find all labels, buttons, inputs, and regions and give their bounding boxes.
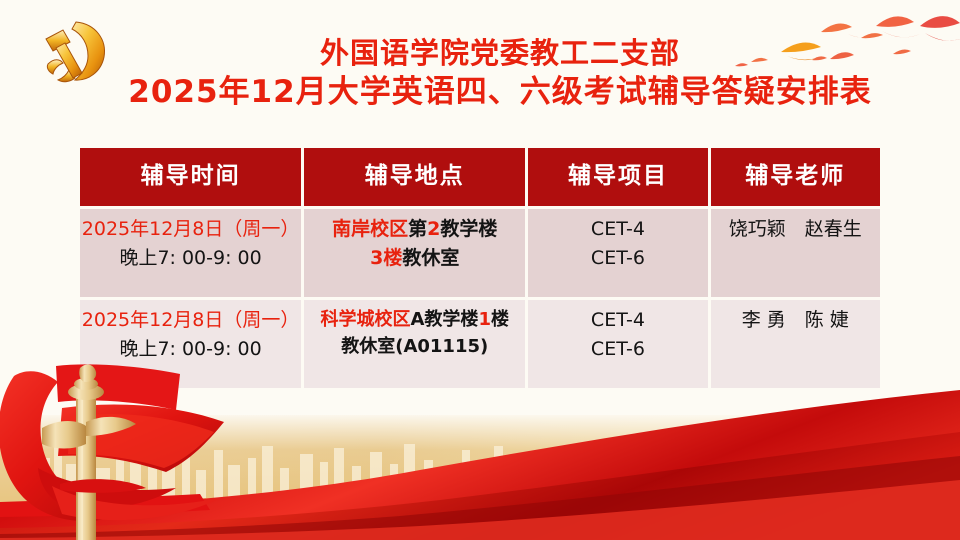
cell-place: 南岸校区第2教学楼 3楼教休室 xyxy=(304,209,525,297)
time-date: 2025年12月8日（周一） xyxy=(80,306,301,335)
teacher-names: 饶巧颖 赵春生 xyxy=(711,215,880,244)
slide-canvas: 外国语学院党委教工二支部 2025年12月大学英语四、六级考试辅导答疑安排表 辅… xyxy=(0,0,960,540)
column-header-item: 辅导项目 xyxy=(528,148,707,206)
page-title: 外国语学院党委教工二支部 2025年12月大学英语四、六级考试辅导答疑安排表 xyxy=(120,36,880,111)
red-ribbon-icon xyxy=(0,360,960,540)
item-cet4: CET-4 xyxy=(528,215,707,244)
item-cet6: CET-6 xyxy=(528,335,707,364)
place-building: A教学楼 xyxy=(411,309,479,330)
bottom-decoration xyxy=(0,360,960,540)
party-emblem-icon xyxy=(30,12,114,92)
item-cet4: CET-4 xyxy=(528,306,707,335)
title-line-2: 2025年12月大学英语四、六级考试辅导答疑安排表 xyxy=(120,74,880,111)
cell-item: CET-4 CET-6 xyxy=(528,209,707,297)
table-row: 2025年12月8日（周一） 晚上7: 00-9: 00 南岸校区第2教学楼 3… xyxy=(80,209,880,297)
place-line-2: 3楼教休室 xyxy=(304,244,525,273)
title-line-1: 外国语学院党委教工二支部 xyxy=(120,36,880,70)
place-room: 教休室 xyxy=(402,247,459,269)
place-floor-unit: 楼 xyxy=(491,309,509,330)
time-hours: 晚上7: 00-9: 00 xyxy=(80,244,301,273)
column-header-teacher: 辅导老师 xyxy=(711,148,880,206)
place-floor-no: 1 xyxy=(478,309,491,330)
column-header-time: 辅导时间 xyxy=(80,148,301,206)
place-line-1: 科学城校区A教学楼1楼 xyxy=(304,306,525,333)
place-line-1: 南岸校区第2教学楼 xyxy=(304,215,525,244)
place-floor: 3楼 xyxy=(370,247,402,269)
item-cet6: CET-6 xyxy=(528,244,707,273)
place-prefix: 第 xyxy=(408,218,427,240)
place-campus: 南岸校区 xyxy=(332,218,408,240)
time-hours: 晚上7: 00-9: 00 xyxy=(80,335,301,364)
place-line-2: 教休室(A01115) xyxy=(304,333,525,360)
column-header-place: 辅导地点 xyxy=(304,148,525,206)
time-date: 2025年12月8日（周一） xyxy=(80,215,301,244)
place-building-no: 2 xyxy=(427,218,440,240)
table-header-row: 辅导时间 辅导地点 辅导项目 辅导老师 xyxy=(80,148,880,206)
place-room: 教休室(A01115) xyxy=(341,336,488,357)
cell-time: 2025年12月8日（周一） 晚上7: 00-9: 00 xyxy=(80,209,301,297)
place-campus: 科学城校区 xyxy=(321,309,411,330)
teacher-names: 李 勇 陈 婕 xyxy=(711,306,880,335)
place-building: 教学楼 xyxy=(440,218,497,240)
cell-teacher: 饶巧颖 赵春生 xyxy=(711,209,880,297)
